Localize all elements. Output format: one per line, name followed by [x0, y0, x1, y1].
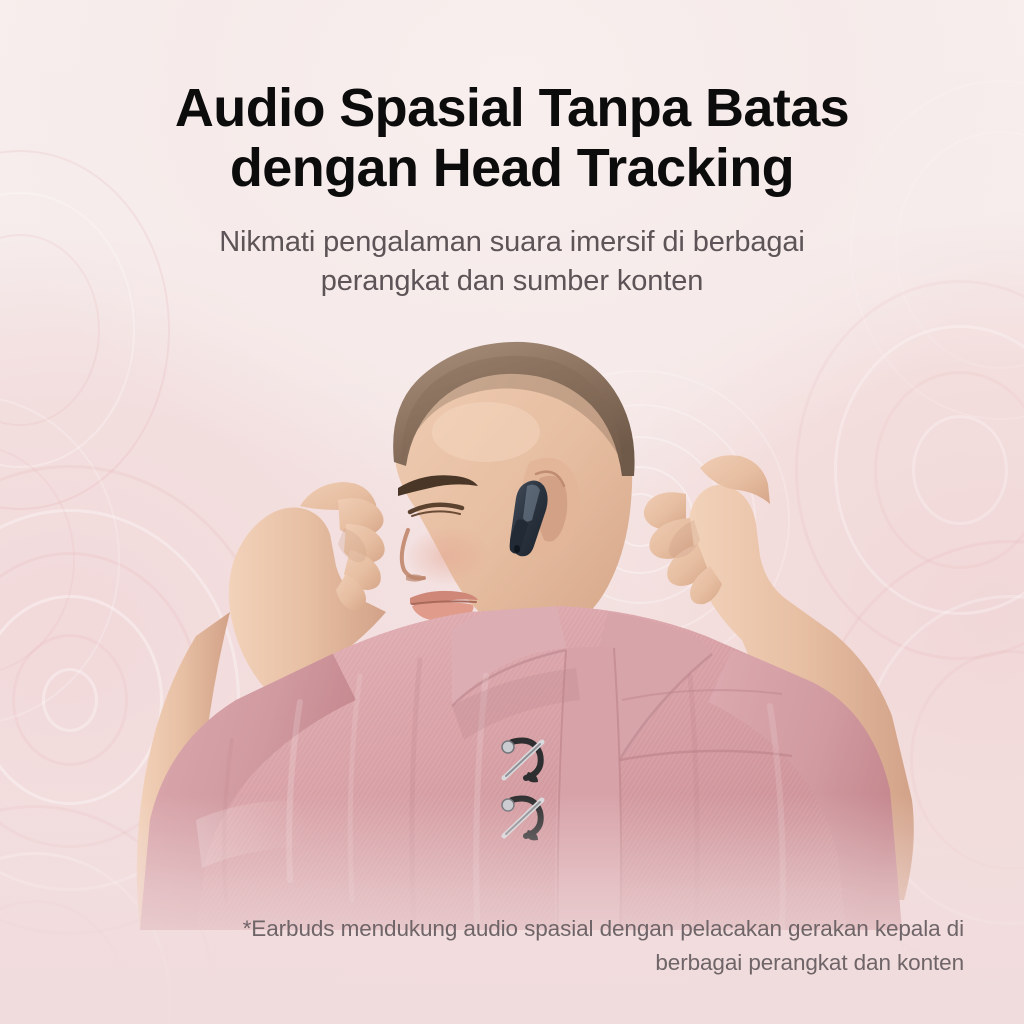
earbud-mic-dot [514, 545, 520, 553]
headline-line-2: dengan Head Tracking [70, 138, 954, 198]
cheek-blush [406, 526, 490, 586]
footnote-disclaimer: *Earbuds mendukung audio spasial dengan … [0, 912, 1024, 980]
headline-block: Audio Spasial Tanpa Batas dengan Head Tr… [0, 0, 1024, 302]
footnote-line-1: *Earbuds mendukung audio spasial dengan … [243, 916, 964, 941]
page-title: Audio Spasial Tanpa Batas dengan Head Tr… [0, 78, 1024, 199]
footnote-line-2: berbagai perangkat dan konten [60, 946, 964, 980]
subheadline-line-2: perangkat dan sumber konten [110, 262, 914, 301]
forehead-highlight [432, 402, 540, 462]
subheadline: Nikmati pengalaman suara imersif di berb… [0, 223, 1024, 302]
headline-line-1: Audio Spasial Tanpa Batas [175, 78, 849, 138]
subheadline-line-1: Nikmati pengalaman suara imersif di berb… [219, 226, 805, 258]
promo-banner: Audio Spasial Tanpa Batas dengan Head Tr… [0, 0, 1024, 1024]
